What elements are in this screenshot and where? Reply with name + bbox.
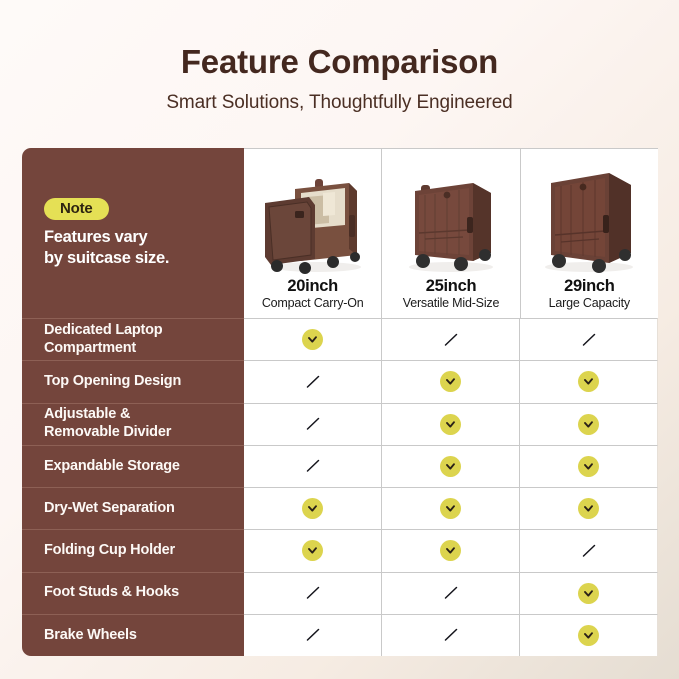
suitcase-open-front-icon (257, 163, 369, 275)
slash-icon (303, 456, 323, 476)
table-row: Dedicated LaptopCompartment (22, 318, 658, 360)
check-circle-icon (578, 456, 599, 477)
slash-icon (303, 583, 323, 603)
slash-icon (303, 372, 323, 392)
check-circle-icon (302, 540, 323, 561)
feature-label-text: Folding Cup Holder (22, 542, 185, 560)
note-line-1: Features vary (44, 227, 169, 248)
feature-comparison-table: Note Features vary by suitcase size. (22, 148, 658, 656)
feature-mark-cells (244, 487, 658, 529)
feature-cell (381, 614, 519, 656)
slash-icon (441, 625, 461, 645)
table-header-row: Note Features vary by suitcase size. (22, 148, 658, 318)
feature-label-line-1: Dry-Wet Separation (44, 500, 175, 518)
feature-label-text: Dedicated LaptopCompartment (22, 322, 172, 357)
table-row: Top Opening Design (22, 360, 658, 402)
feature-cell (244, 572, 381, 614)
suitcase-large-icon (533, 163, 645, 275)
feature-cell (381, 360, 519, 402)
product-size-label: 29inch (564, 277, 614, 295)
feature-cell (519, 445, 658, 487)
slash-icon (303, 414, 323, 434)
suitcase-closed-icon (395, 163, 507, 275)
check-circle-icon (578, 414, 599, 435)
check-circle-icon (440, 540, 461, 561)
slash-icon (441, 583, 461, 603)
slash-icon (303, 625, 323, 645)
product-column-25inch[interactable]: 25inch Versatile Mid-Size (381, 148, 519, 318)
slash-icon (579, 330, 599, 350)
check-circle-icon (578, 371, 599, 392)
table-row: Adjustable &Removable Divider (22, 403, 658, 445)
feature-rows-container: Dedicated LaptopCompartmentTop Opening D… (22, 318, 658, 656)
product-size-label: 20inch (287, 277, 337, 295)
feature-label-cell: Foot Studs & Hooks (22, 572, 244, 614)
table-row: Folding Cup Holder (22, 529, 658, 571)
check-circle-icon (440, 414, 461, 435)
table-row: Brake Wheels (22, 614, 658, 656)
feature-cell (244, 318, 381, 360)
page-title: Feature Comparison (0, 44, 679, 80)
feature-label-text: Dry-Wet Separation (22, 500, 185, 518)
feature-cell (519, 572, 658, 614)
feature-label-cell: Dedicated LaptopCompartment (22, 318, 244, 360)
feature-cell (244, 403, 381, 445)
note-line-2: by suitcase size. (44, 248, 169, 269)
feature-label-line-1: Dedicated Laptop (44, 322, 162, 340)
feature-mark-cells (244, 403, 658, 445)
heading-block: Feature Comparison Smart Solutions, Thou… (0, 44, 679, 114)
check-circle-icon (578, 583, 599, 604)
feature-cell (519, 360, 658, 402)
feature-label-cell: Top Opening Design (22, 360, 244, 402)
feature-cell (381, 529, 519, 571)
feature-mark-cells (244, 360, 658, 402)
table-row: Foot Studs & Hooks (22, 572, 658, 614)
product-column-29inch[interactable]: 29inch Large Capacity (520, 148, 658, 318)
feature-cell (519, 487, 658, 529)
feature-cell (519, 403, 658, 445)
check-circle-icon (578, 625, 599, 646)
feature-label-cell: Brake Wheels (22, 614, 244, 656)
feature-cell (244, 445, 381, 487)
product-size-label: 25inch (426, 277, 476, 295)
note-badge: Note (44, 198, 109, 220)
feature-cell (381, 487, 519, 529)
product-desc-label: Compact Carry-On (262, 296, 364, 312)
note-text: Features vary by suitcase size. (44, 227, 169, 268)
check-circle-icon (578, 498, 599, 519)
feature-label-text: Expandable Storage (22, 458, 190, 476)
feature-label-cell: Dry-Wet Separation (22, 487, 244, 529)
feature-label-line-2: Compartment (44, 340, 162, 358)
feature-cell (381, 403, 519, 445)
check-circle-icon (302, 498, 323, 519)
feature-label-line-1: Adjustable & (44, 406, 171, 424)
feature-label-text: Foot Studs & Hooks (22, 584, 189, 602)
feature-label-line-1: Top Opening Design (44, 373, 181, 391)
table-row: Dry-Wet Separation (22, 487, 658, 529)
product-header-cells: 20inch Compact Carry-On (244, 148, 658, 318)
feature-cell (381, 445, 519, 487)
feature-label-line-1: Expandable Storage (44, 458, 180, 476)
feature-label-text: Top Opening Design (22, 373, 191, 391)
feature-cell (244, 360, 381, 402)
feature-mark-cells (244, 572, 658, 614)
feature-label-line-1: Folding Cup Holder (44, 542, 175, 560)
feature-cell (519, 318, 658, 360)
table-row: Expandable Storage (22, 445, 658, 487)
check-circle-icon (440, 371, 461, 392)
note-panel: Note Features vary by suitcase size. (22, 148, 244, 318)
check-circle-icon (440, 498, 461, 519)
check-circle-icon (302, 329, 323, 350)
feature-mark-cells (244, 529, 658, 571)
product-column-20inch[interactable]: 20inch Compact Carry-On (244, 148, 381, 318)
feature-cell (519, 529, 658, 571)
feature-label-cell: Folding Cup Holder (22, 529, 244, 571)
feature-label-line-1: Brake Wheels (44, 627, 137, 645)
feature-label-cell: Expandable Storage (22, 445, 244, 487)
feature-cell (381, 572, 519, 614)
feature-cell (519, 614, 658, 656)
feature-mark-cells (244, 614, 658, 656)
feature-label-text: Adjustable &Removable Divider (22, 406, 181, 441)
feature-cell (381, 318, 519, 360)
page-subtitle: Smart Solutions, Thoughtfully Engineered (0, 92, 679, 114)
feature-cell (244, 529, 381, 571)
feature-label-line-2: Removable Divider (44, 424, 171, 442)
feature-label-line-1: Foot Studs & Hooks (44, 584, 179, 602)
feature-mark-cells (244, 445, 658, 487)
slash-icon (579, 541, 599, 561)
feature-label-text: Brake Wheels (22, 627, 147, 645)
comparison-page: Feature Comparison Smart Solutions, Thou… (0, 0, 679, 679)
feature-label-cell: Adjustable &Removable Divider (22, 403, 244, 445)
feature-mark-cells (244, 318, 658, 360)
feature-cell (244, 614, 381, 656)
check-circle-icon (440, 456, 461, 477)
product-desc-label: Versatile Mid-Size (403, 296, 499, 312)
feature-cell (244, 487, 381, 529)
product-desc-label: Large Capacity (549, 296, 630, 312)
slash-icon (441, 330, 461, 350)
